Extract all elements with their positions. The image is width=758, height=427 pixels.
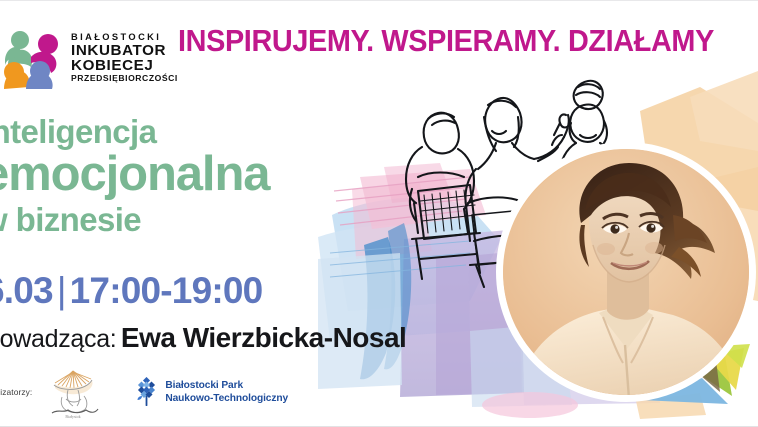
bpnt-line-1: Białostocki Park	[165, 380, 243, 391]
title-line-2: emocjonalna	[0, 148, 269, 201]
event-poster: BIAŁOSTOCKI INKUBATOR KOBIECEJ PRZEDSIĘB…	[0, 0, 758, 427]
presenter-label: prowadząca:	[0, 325, 116, 353]
four-people-circle-icon	[4, 27, 62, 89]
datetime-separator: |	[53, 270, 70, 311]
brand-logo: BIAŁOSTOCKI INKUBATOR KOBIECEJ PRZEDSIĘB…	[4, 27, 178, 89]
brand-line-3: KOBIECEJ	[71, 58, 178, 74]
event-datetime: 6.03|17:00-19:00	[0, 270, 262, 312]
presenter-name: Ewa Wierzbicka-Nosal	[121, 322, 406, 353]
diamond-tree-icon	[136, 377, 158, 407]
organizers-row: ganizatorzy:	[0, 363, 288, 421]
organizers-label: ganizatorzy:	[0, 387, 32, 397]
portrait-illustration	[503, 149, 749, 395]
svg-text:Białystok: Białystok	[66, 414, 81, 419]
tagline: INSPIRUJEMY. WSPIERAMY. DZIAŁAMY	[178, 23, 714, 59]
bpnt-logo: Białostocki Park Naukowo-Technologiczny	[136, 377, 288, 407]
event-date: 6.03	[0, 270, 53, 311]
bpnt-logo-text: Białostocki Park Naukowo-Technologiczny	[165, 379, 288, 406]
page-title: Inteligencja emocjonalna w biznesie	[0, 115, 269, 239]
presenter-line: prowadząca: Ewa Wierzbicka-Nosal	[0, 322, 406, 354]
brand-logo-text: BIAŁOSTOCKI INKUBATOR KOBIECEJ PRZEDSIĘB…	[71, 33, 178, 82]
title-line-1: Inteligencja	[0, 115, 269, 148]
woman-in-sunhat-icon: Białystok	[42, 363, 104, 421]
brand-line-2: INKUBATOR	[71, 43, 178, 59]
title-line-3: w biznesie	[0, 201, 269, 239]
event-time: 17:00-19:00	[70, 270, 263, 311]
presenter-portrait	[496, 142, 756, 402]
bpnt-line-2: Naukowo-Technologiczny	[165, 393, 288, 404]
brand-line-4: PRZEDSIĘBIORCZOŚCI	[71, 74, 178, 83]
